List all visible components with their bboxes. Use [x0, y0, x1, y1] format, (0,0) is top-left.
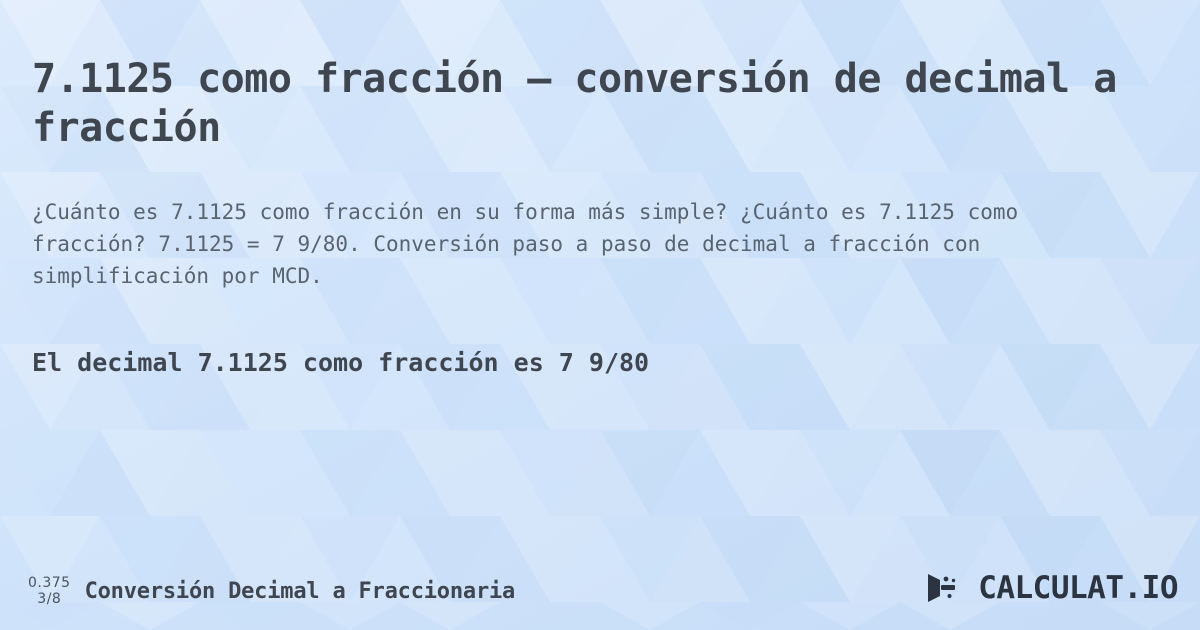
fraction-icon: 0.375 3/8	[28, 575, 71, 608]
fraction-icon-fraction: 3/8	[37, 591, 61, 608]
footer-brand-left: 0.375 3/8 Conversión Decimal a Fracciona…	[28, 575, 515, 608]
calculator-logo-icon	[924, 571, 970, 605]
brand-wordmark: CALCULAT.IO	[978, 570, 1178, 606]
page-description: ¿Cuánto es 7.1125 como fracción en su fo…	[32, 197, 1112, 293]
footer-category-label: Conversión Decimal a Fraccionaria	[85, 579, 516, 604]
answer-statement: El decimal 7.1125 como fracción es 7 9/8…	[32, 348, 1112, 377]
fraction-icon-decimal: 0.375	[28, 575, 71, 592]
site-logo: CALCULAT.IO	[924, 570, 1178, 606]
page-title: 7.1125 como fracción – conversión de dec…	[32, 55, 1142, 153]
og-image-card: 7.1125 como fracción – conversión de dec…	[0, 0, 1200, 630]
